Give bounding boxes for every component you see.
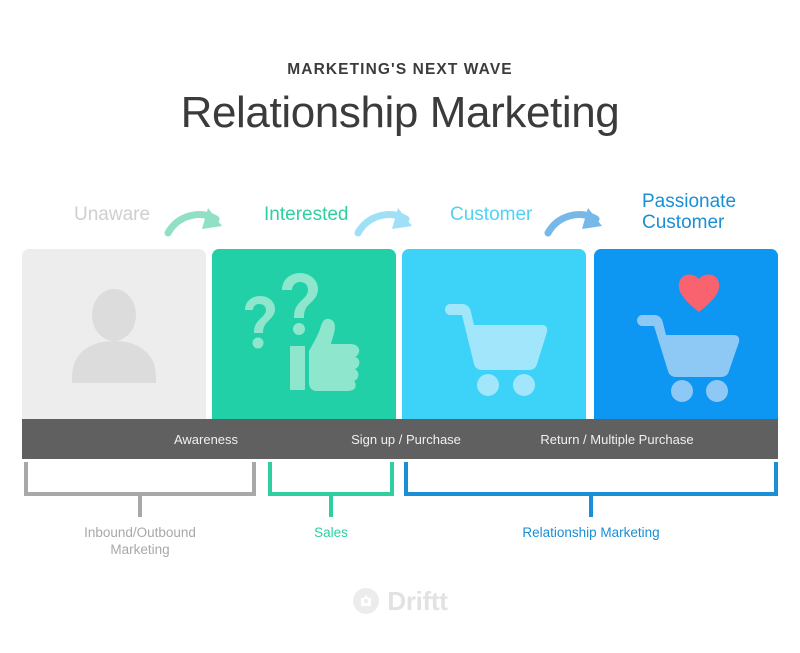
stage-label-passionate: Passionate Customer <box>642 191 736 233</box>
bracket-tick <box>329 496 333 517</box>
header: MARKETING'S NEXT WAVE Relationship Marke… <box>0 0 800 136</box>
page-title: Relationship Marketing <box>0 90 800 136</box>
stage-label-passionate-line2: Customer <box>642 212 736 233</box>
bracket-caption: Relationship Marketing <box>404 524 778 541</box>
band-label-signup-purchase: Sign up / Purchase <box>316 432 496 447</box>
bracket-caption-line1: Sales <box>314 525 348 540</box>
stage-label-row: Unaware Interested Customer Passionate C… <box>24 186 778 246</box>
bracket-tick <box>589 496 593 517</box>
stage-panel-row <box>22 249 778 421</box>
stage-description-band: Awareness Sign up / Purchase Return / Mu… <box>22 419 778 459</box>
stage-panel-passionate[interactable] <box>594 249 778 421</box>
bracket-row: Inbound/Outbound Marketing Sales Relatio… <box>0 462 800 582</box>
bracket-caption: Sales <box>268 524 394 541</box>
shopping-cart-icon <box>402 249 586 421</box>
bracket-shape <box>24 462 256 496</box>
bracket-caption-line1: Inbound/Outbound <box>84 525 196 540</box>
arrow-interested-to-customer-icon <box>354 202 426 242</box>
driftt-badge-icon <box>352 587 380 615</box>
bracket-caption: Inbound/Outbound Marketing <box>24 524 256 558</box>
band-label-return-multiple-purchase: Return / Multiple Purchase <box>502 432 732 447</box>
shopping-cart-heart-icon <box>594 249 778 421</box>
person-silhouette-icon <box>22 249 206 421</box>
stage-label-unaware: Unaware <box>74 204 150 225</box>
stage-label-customer: Customer <box>450 204 532 225</box>
bracket-caption-line2: Marketing <box>24 541 256 558</box>
footer-brand: Driftt <box>0 578 800 624</box>
bracket-caption-line1: Relationship Marketing <box>522 525 659 540</box>
page-kicker: MARKETING'S NEXT WAVE <box>0 62 800 78</box>
stage-label-interested: Interested <box>264 204 349 225</box>
arrow-unaware-to-interested-icon <box>164 202 236 242</box>
brand-wordmark: Driftt <box>387 588 447 614</box>
bracket-shape <box>404 462 778 496</box>
stage-label-passionate-line1: Passionate <box>642 191 736 212</box>
arrow-customer-to-passionate-icon <box>544 202 616 242</box>
stage-panel-unaware[interactable] <box>22 249 206 421</box>
question-marks-thumbs-up-icon <box>212 249 396 421</box>
bracket-tick <box>138 496 142 517</box>
band-label-awareness: Awareness <box>126 432 286 447</box>
stage-panel-customer[interactable] <box>402 249 586 421</box>
stage-panel-interested[interactable] <box>212 249 396 421</box>
bracket-shape <box>268 462 394 496</box>
